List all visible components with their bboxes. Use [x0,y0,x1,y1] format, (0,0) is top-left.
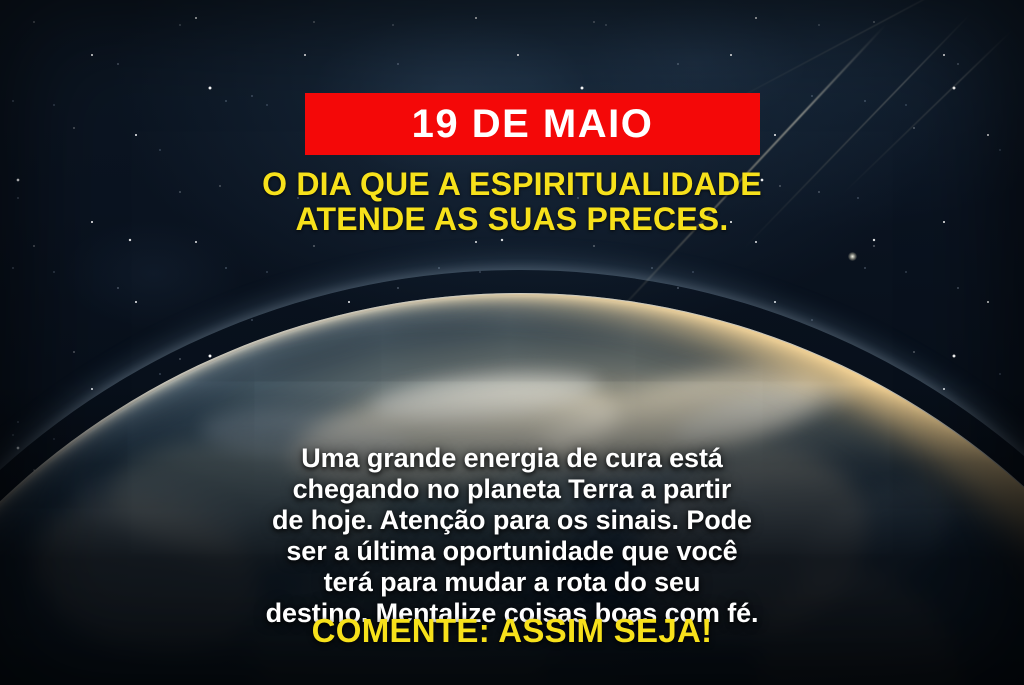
body-line-3: de hoje. Atenção para os sinais. Pode [50,505,974,536]
body-line-2: chegando no planeta Terra a partir [50,474,974,505]
headline-line-2: ATENDE AS SUAS PRECES. [0,202,1024,237]
headline-line-1: O DIA QUE A ESPIRITUALIDADE [0,167,1024,202]
body-line-1: Uma grande energia de cura está [50,443,974,474]
body-line-4: ser a última oportunidade que você [50,536,974,567]
call-to-action-label: COMENTE: ASSIM SEJA! [312,612,713,649]
poster-content: 19 DE MAIO O DIA QUE A ESPIRITUALIDADE A… [0,0,1024,685]
body-paragraph: Uma grande energia de cura está chegando… [50,443,974,629]
call-to-action: COMENTE: ASSIM SEJA! [0,613,1024,649]
date-banner-label: 19 DE MAIO [412,104,654,144]
date-banner: 19 DE MAIO [305,93,760,155]
headline: O DIA QUE A ESPIRITUALIDADE ATENDE AS SU… [0,167,1024,237]
body-line-5: terá para mudar a rota do seu [50,567,974,598]
poster-canvas: 19 DE MAIO O DIA QUE A ESPIRITUALIDADE A… [0,0,1024,685]
